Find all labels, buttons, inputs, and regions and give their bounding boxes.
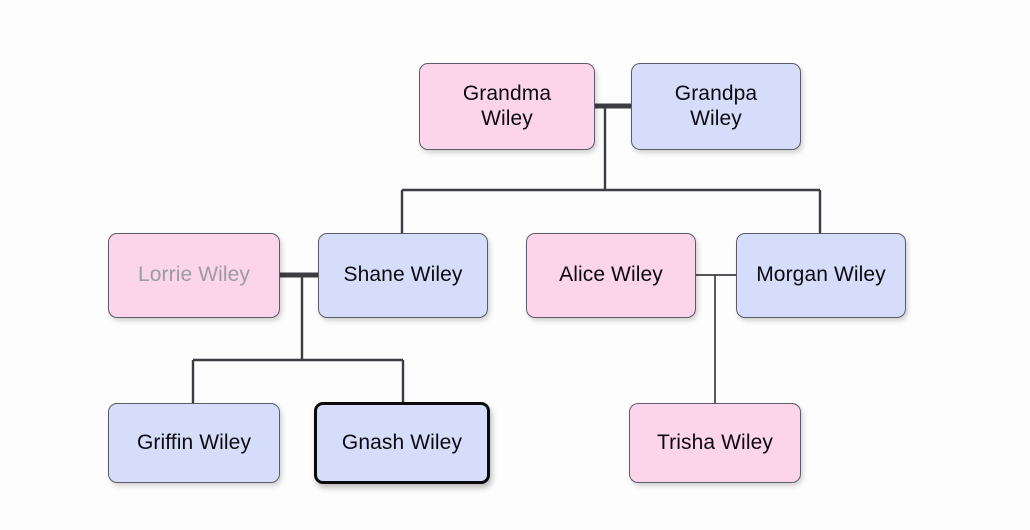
person-node-shane[interactable]: Shane Wiley [318, 233, 488, 318]
person-node-gnash[interactable]: Gnash Wiley [314, 402, 490, 484]
family-tree-canvas: Grandma WileyGrandpa WileyLorrie WileySh… [0, 0, 1030, 530]
person-node-trisha[interactable]: Trisha Wiley [629, 403, 801, 483]
person-node-griffin[interactable]: Griffin Wiley [108, 403, 280, 483]
person-node-grandpa[interactable]: Grandpa Wiley [631, 63, 801, 150]
person-node-grandma[interactable]: Grandma Wiley [419, 63, 595, 150]
person-node-lorrie[interactable]: Lorrie Wiley [108, 233, 280, 318]
person-node-alice[interactable]: Alice Wiley [526, 233, 696, 318]
person-node-morgan[interactable]: Morgan Wiley [736, 233, 906, 318]
